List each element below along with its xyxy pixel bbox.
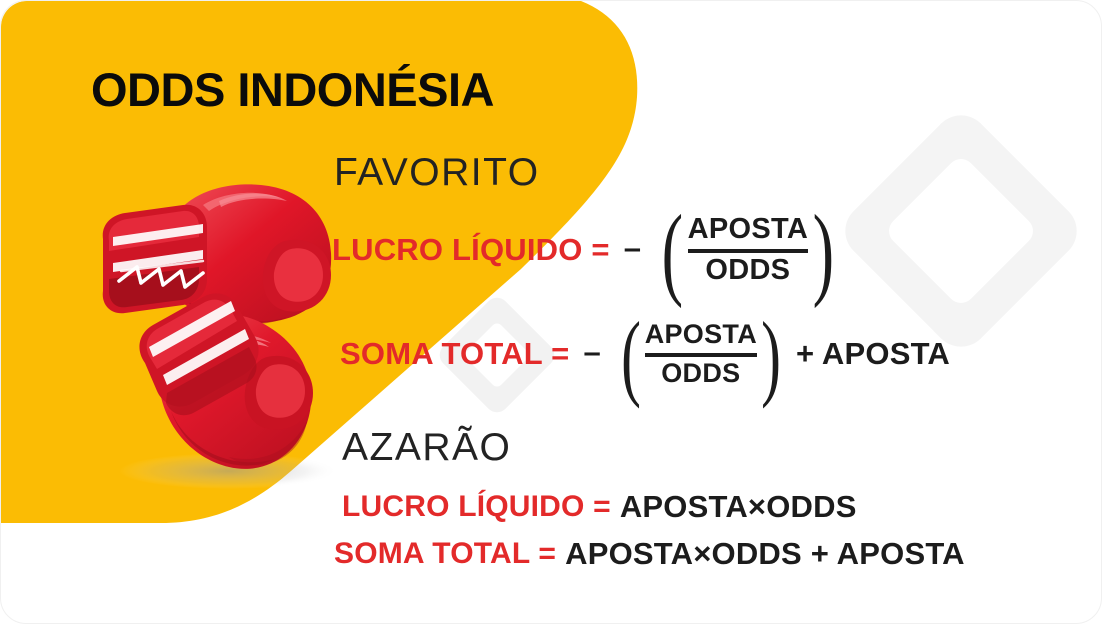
formula-favorito-lucro-liquido: LUCRO LÍQUIDO = – ( APOSTA ODDS )	[332, 215, 841, 285]
formula-azarao-soma-total: SOMA TOTAL = APOSTA×ODDS + APOSTA	[334, 536, 965, 572]
fraction-numerator: APOSTA	[688, 215, 809, 244]
formula-expression: APOSTA×ODDS	[620, 489, 857, 525]
minus-sign: –	[583, 334, 600, 370]
odds-indonesia-card: ODDS INDONÉSIA FAVORITO LUCRO LÍQUIDO = …	[0, 0, 1102, 624]
fraction-numerator: APOSTA	[645, 321, 757, 348]
formula-label: LUCRO LÍQUIDO =	[332, 232, 610, 268]
boxing-gloves-icon	[79, 171, 359, 491]
section-heading-favorito: FAVORITO	[334, 151, 540, 195]
fraction: APOSTA ODDS	[686, 215, 811, 285]
fraction-denominator: ODDS	[661, 360, 740, 387]
fraction-denominator: ODDS	[705, 256, 790, 285]
formula-label: SOMA TOTAL =	[334, 537, 556, 571]
formula-suffix: + APOSTA	[796, 336, 950, 372]
fraction-group: ( APOSTA ODDS )	[655, 215, 841, 285]
minus-sign: –	[624, 230, 641, 266]
formula-favorito-soma-total: SOMA TOTAL = – ( APOSTA ODDS ) + APOSTA	[340, 321, 950, 387]
page-title: ODDS INDONÉSIA	[91, 62, 494, 117]
formula-azarao-lucro-liquido: LUCRO LÍQUIDO = APOSTA×ODDS	[342, 489, 857, 525]
section-heading-azarao: AZARÃO	[342, 426, 511, 470]
fraction-bar	[688, 249, 809, 253]
fraction-bar	[645, 353, 757, 357]
formula-expression: APOSTA×ODDS + APOSTA	[565, 536, 965, 572]
fraction-group: ( APOSTA ODDS )	[615, 321, 787, 387]
fraction: APOSTA ODDS	[643, 321, 759, 387]
formula-label: LUCRO LÍQUIDO =	[342, 490, 611, 524]
formula-label: SOMA TOTAL =	[340, 336, 569, 372]
